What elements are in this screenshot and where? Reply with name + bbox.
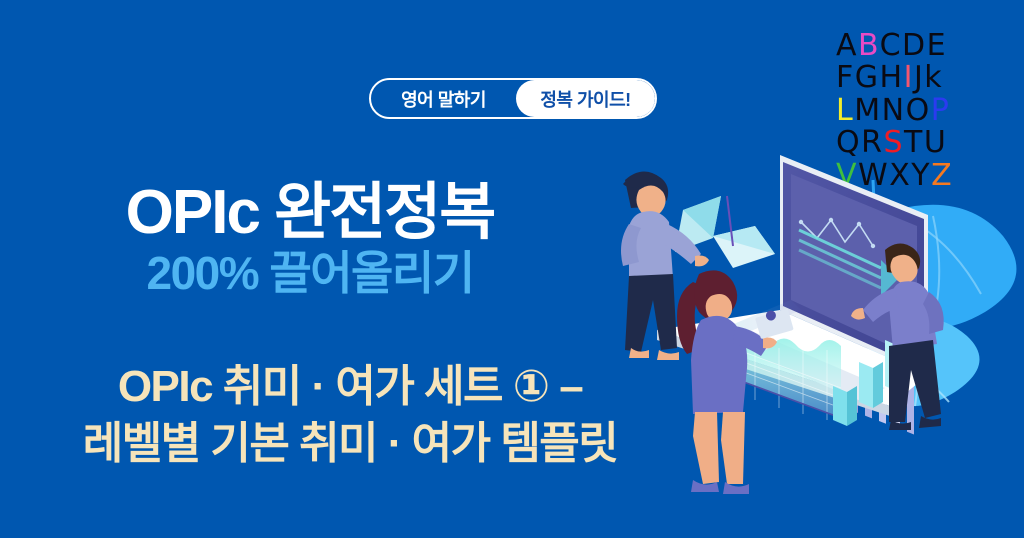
alphabet-row-5: VWXYZ	[836, 160, 988, 192]
alphabet-letter-B: B	[858, 28, 880, 63]
alphabet-letter-I: I	[904, 60, 914, 95]
alphabet-letter-R: R	[861, 125, 883, 160]
alphabet-letter-G: G	[855, 60, 880, 95]
alphabet-letter-E: E	[927, 28, 947, 63]
person-right	[851, 243, 944, 430]
subheadline-line-2: 레벨별 기본 취미 · 여가 템플릿	[0, 415, 700, 472]
alphabet-letter-W: W	[858, 158, 889, 193]
person-left	[621, 171, 709, 360]
alphabet-letter-J: J	[914, 60, 924, 95]
subheadline-line-1: OPIc 취미 · 여가 세트 ① –	[0, 358, 700, 415]
alphabet-letter-V: V	[836, 158, 858, 193]
headline-block: OPIc 완전정복 200% 끌어올리기	[0, 180, 620, 300]
badge-left-label: 영어 말하기	[371, 80, 516, 117]
floating-bar-chart	[833, 340, 909, 426]
alphabet-letter-F: F	[836, 60, 855, 95]
alphabet-letter-O: O	[906, 93, 931, 128]
alphabet-letter-H: H	[880, 60, 904, 95]
screen-bar-chart	[851, 352, 914, 434]
alphabet-letter-X: X	[889, 158, 911, 193]
alphabet-row-2: FGHIJk	[836, 62, 988, 94]
badge-right-label: 정복 가이드!	[516, 80, 655, 117]
alphabet-letter-Q: Q	[836, 125, 861, 160]
alphabet-letter-D: D	[902, 28, 927, 63]
alphabet-letter-Z: Z	[931, 158, 953, 193]
alphabet-letter-M: M	[854, 93, 881, 128]
guide-badge[interactable]: 영어 말하기 정복 가이드!	[369, 78, 657, 119]
alphabet-letter-k: k	[924, 60, 943, 95]
alphabet-decoration: ABCDEFGHIJkLMNOPQRSTUVWXYZ	[836, 30, 988, 192]
alphabet-row-4: QRSTU	[836, 127, 988, 159]
alphabet-letter-A: A	[836, 28, 858, 63]
alphabet-letter-T: T	[904, 125, 924, 160]
alphabet-letter-S: S	[883, 125, 904, 160]
screen-streak-lines	[799, 230, 899, 296]
headline-primary: OPIc 완전정복	[0, 180, 620, 245]
alphabet-letter-P: P	[931, 93, 951, 128]
leaf-decoration	[859, 180, 907, 278]
alphabet-letter-N: N	[882, 93, 906, 128]
alphabet-row-3: LMNOP	[836, 95, 988, 127]
laptop-dashboard-illustration	[595, 150, 1024, 538]
alphabet-letter-U: U	[924, 125, 947, 160]
subheadline-block: OPIc 취미 · 여가 세트 ① – 레벨별 기본 취미 · 여가 템플릿	[0, 358, 700, 472]
alphabet-letter-C: C	[880, 28, 902, 63]
floating-papers	[675, 196, 775, 268]
alphabet-letter-L: L	[836, 93, 854, 128]
headline-secondary: 200% 끌어올리기	[0, 247, 620, 300]
alphabet-row-1: ABCDE	[836, 30, 988, 62]
alphabet-letter-Y: Y	[911, 158, 931, 193]
hologram-wave-chart	[695, 334, 844, 421]
screen-line-chart	[799, 218, 875, 248]
